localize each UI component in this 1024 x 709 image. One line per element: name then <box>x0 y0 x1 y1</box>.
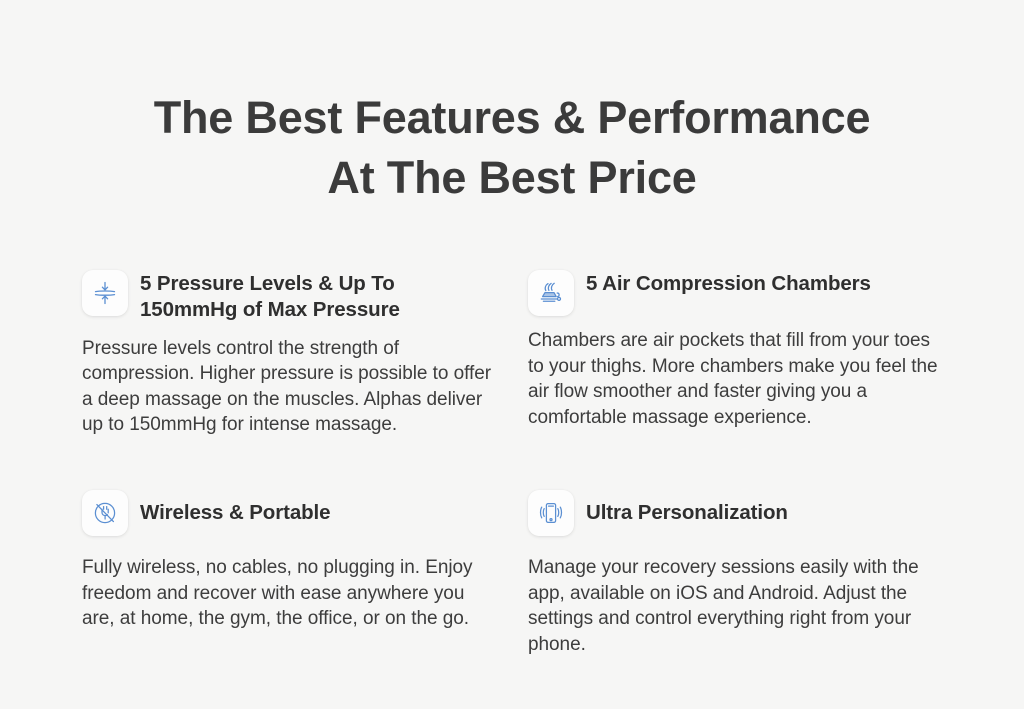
feature-body: Pressure levels control the strength of … <box>82 336 494 438</box>
page-title-line-1: The Best Features & Performance <box>0 88 1024 147</box>
feature-section: The Best Features & Performance At The B… <box>0 30 1024 709</box>
feature-header: 5 Air Compression Chambers <box>528 270 944 316</box>
feature-grid: 5 Pressure Levels & Up To 150mmHg of Max… <box>82 270 944 676</box>
feature-title: Ultra Personalization <box>586 490 788 526</box>
feature-title: Wireless & Portable <box>140 490 330 526</box>
feature-title: 5 Air Compression Chambers <box>586 270 871 297</box>
feature-title: 5 Pressure Levels & Up To 150mmHg of Max… <box>140 270 480 323</box>
air-flow-icon <box>528 270 574 316</box>
no-plug-icon <box>82 490 128 536</box>
feature-header: Ultra Personalization <box>528 490 944 536</box>
feature-body: Fully wireless, no cables, no plugging i… <box>82 555 494 631</box>
page-title-line-2: At The Best Price <box>0 148 1024 207</box>
vibrating-phone-icon <box>528 490 574 536</box>
feature-header: 5 Pressure Levels & Up To 150mmHg of Max… <box>82 270 498 323</box>
feature-card-pressure-levels: 5 Pressure Levels & Up To 150mmHg of Max… <box>82 270 498 470</box>
page-title: The Best Features & Performance At The B… <box>0 30 1024 207</box>
feature-body: Chambers are air pockets that fill from … <box>528 328 940 430</box>
compression-arrows-icon <box>82 270 128 316</box>
feature-card-wireless-portable: Wireless & Portable Fully wireless, no c… <box>82 490 498 676</box>
feature-body: Manage your recovery sessions easily wit… <box>528 555 940 657</box>
feature-header: Wireless & Portable <box>82 490 498 536</box>
feature-card-air-chambers: 5 Air Compression Chambers Chambers are … <box>528 270 944 470</box>
feature-card-ultra-personalization: Ultra Personalization Manage your recove… <box>528 490 944 676</box>
